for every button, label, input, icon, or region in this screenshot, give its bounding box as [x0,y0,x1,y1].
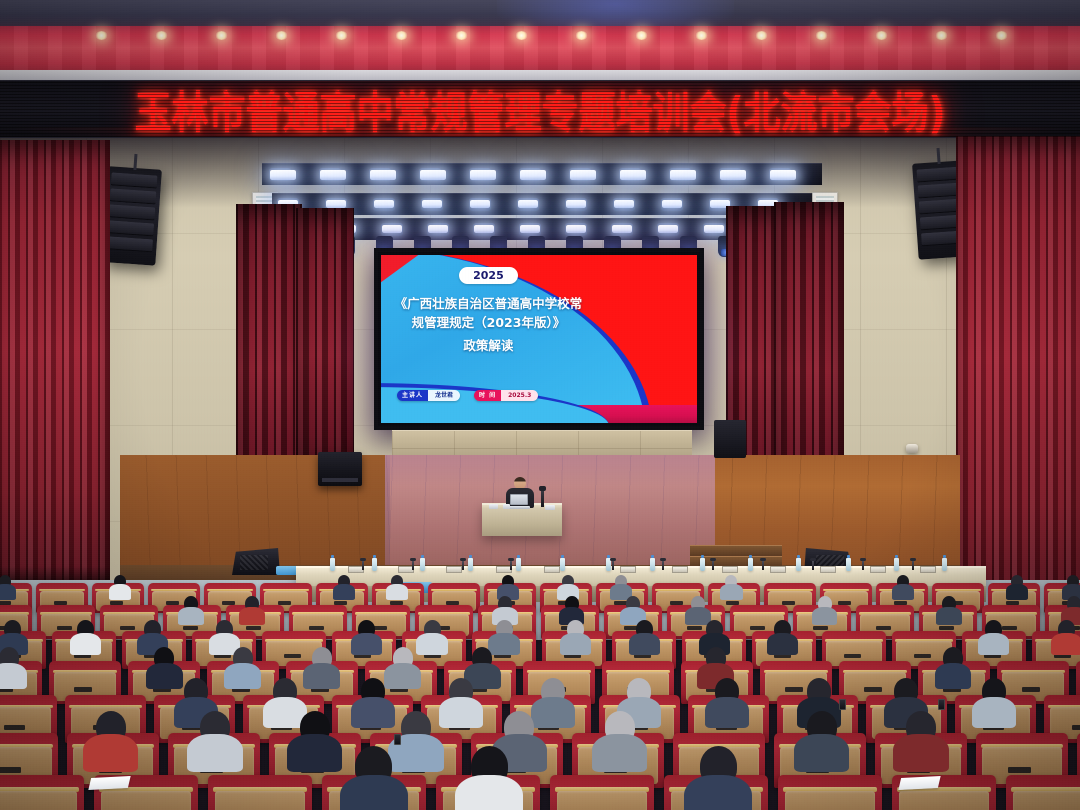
audience-member-shoulders [488,633,519,655]
audience-member [355,746,392,786]
audience-member-shoulders [1006,584,1028,600]
audience-member [391,575,403,588]
table-item-right [545,505,555,510]
ceiling-downlight-9 [575,31,588,40]
water-bottle-2 [372,558,377,571]
audience-member-shoulders [146,663,183,689]
audience-member [541,678,565,704]
water-bottle-6 [560,558,565,571]
curtain-far-right [956,136,1080,598]
stage-lamp-3-10 [704,225,724,233]
seat-number-plate [984,654,1001,658]
name-plate-11 [870,566,886,573]
audience-member-shoulders [0,663,27,689]
ceiling-downlight-11 [695,31,708,40]
audience-member-shoulders [592,734,647,772]
audience-member-shoulders [935,663,972,689]
stage-monitor-speaker-left [232,548,280,575]
ceiling-downlight-7 [455,31,468,40]
audience-member [96,711,126,743]
audience-member-shoulders [187,734,242,772]
seat-number-plate [564,654,581,658]
water-bottle-3 [420,558,425,571]
audience-member-shoulders [416,633,447,655]
audience-member [894,678,918,704]
raised-phone [394,734,401,745]
audience-member [706,620,723,638]
audience-member [273,678,297,704]
ceiling-downlight-13 [815,31,828,40]
stage-lamp-1-4 [420,170,446,180]
wall-light-right-upper [906,444,918,453]
audience-member [154,647,174,669]
audience-member [498,596,512,611]
audience-member [818,596,832,611]
desk-microphone-11 [912,560,914,570]
audience-member-shoulders [70,633,101,655]
audience-member [897,575,909,588]
stage-lamp-3-8 [612,225,632,233]
seat-number-plate [284,654,301,658]
stage-lamp-1-3 [370,170,396,180]
audience-member [300,711,330,743]
seat-back-panel [0,791,77,810]
stage-lamp-2-8 [614,200,634,208]
audience-member [0,575,11,588]
seat-number-plate [1054,654,1071,658]
name-plate-7 [672,566,688,573]
audience-member [393,647,413,669]
stage-lamp-1-9 [670,170,696,180]
desk-microphone-5 [612,560,614,570]
audience-member [245,596,259,611]
audience-member-shoulders [351,633,382,655]
audience-member [906,711,936,743]
audience-member-shoulders [303,663,340,689]
seat-number-plate [354,654,371,658]
name-plate-3 [446,566,462,573]
audience-member-shoulders [287,734,342,772]
ceiling-downlight-5 [335,31,348,40]
audience-member [567,620,584,638]
audience-seating-area [0,575,1080,810]
audience-member-shoulders [892,584,914,600]
seat-number-plate [939,626,954,630]
seat-number-plate [57,626,72,630]
audience-member [715,678,739,704]
audience-member-shoulders [705,697,749,728]
name-plate-9 [770,566,786,573]
ceiling-downlight-10 [635,31,648,40]
table-item-mid [503,504,510,509]
seat-back-panel [101,791,190,810]
seat-back-panel [215,791,304,810]
seat-number-plate [813,626,828,630]
audience-member [565,596,579,611]
slide-time-pill: 时 间 2025.3 [474,390,538,401]
laptop-keyboard [508,506,530,509]
stage-lamp-1-11 [770,170,796,180]
stage-lamp-3-4 [428,225,448,233]
audience-member-shoulders [384,663,421,689]
seat-number-plate [785,687,804,692]
seat-number-plate [74,654,91,658]
seat-number-plate [914,654,931,658]
ceiling-downlight-15 [935,31,948,40]
audience-member-shoulders [109,584,131,600]
auditorium-photo: 玉林市普通高中常规管理专题培训会(北流市会场) 20 [0,0,1080,810]
presenter-laptop [508,494,530,507]
stage-lamp-3-6 [520,225,540,233]
seat-back-panel [557,791,646,810]
seat-number-plate [634,654,651,658]
audience-member [471,746,508,786]
audience-member-shoulders [239,607,265,625]
water-bottle-1 [330,558,335,571]
audience-member [216,620,233,638]
audience-member-shoulders [560,633,591,655]
slide-subtitle: 政策解读 [463,335,513,354]
audience-member [312,647,332,669]
audience-member [338,575,350,588]
slide-time-label: 时 间 [474,390,501,401]
seat-back-panel [1013,791,1080,810]
stage-lamp-2-5 [470,200,490,208]
ceiling-downlight-12 [755,31,768,40]
audience-member [807,678,831,704]
seat[interactable] [778,775,882,810]
audience-member [615,575,627,588]
name-plate-6 [620,566,636,573]
audience-member-shoulders [531,697,575,728]
slide-title-line-1: 《广西壮族自治区普通高中学校常 [387,294,589,313]
audience-member [700,746,737,786]
ceiling-downlight-8 [515,31,528,40]
ceiling-downlight-6 [395,31,408,40]
audience-member [706,647,726,669]
audience-member-shoulders [333,584,355,600]
audience-member [449,678,473,704]
audience-member-shoulders [455,775,523,810]
seat-number-plate [74,687,93,692]
desk-microphone-7 [712,560,714,570]
seat-back-panel [899,791,988,810]
water-bottle-8 [650,558,655,571]
audience-member-shoulders [351,697,395,728]
seat-number-plate [687,626,702,630]
audience-member [502,575,514,588]
seat-number-plate [1002,626,1017,630]
seat-number-plate [424,654,441,658]
audience-member-shoulders [178,607,204,625]
desk-microphone-8 [762,560,764,570]
audience-member [233,647,253,669]
audience-member [691,596,705,611]
ceiling-downlight-3 [215,31,228,40]
seat-number-plate [750,626,765,630]
slide-meta-row: 主讲人 龙世君 时 间 2025.3 [381,390,697,401]
curtain-stage-left-leg [296,208,354,476]
desk-microphone-6 [662,560,664,570]
seat-number-plate [214,654,231,658]
audience-member [562,575,574,588]
seat-number-plate [0,767,21,773]
curtain-far-left [0,140,110,580]
audience-member-shoulders [1051,633,1080,655]
led-projection-screen: 2025 《广西壮族自治区普通高中学校常 规管理规定（2023年版）》 政策解读… [374,248,704,430]
stage-lamp-1-1 [270,170,296,180]
seat-number-plate [1008,767,1032,773]
stage-lamp-1-6 [520,170,546,180]
led-banner-text: 玉林市普通高中常规管理专题培训会(北流市会场) [135,80,946,138]
water-bottle-13 [894,558,899,571]
seat-number-plate [774,654,791,658]
desk-microphone-3 [462,560,464,570]
audience-member [942,596,956,611]
audience-member-shoulders [83,734,138,772]
audience-member [144,620,161,638]
stage-lamp-2-6 [518,200,538,208]
seat-number-plate [183,626,198,630]
audience-member [982,678,1006,704]
audience-member [943,647,963,669]
audience-member [496,620,513,638]
table-item-left [489,504,498,509]
ceiling-downlight-16 [995,31,1008,40]
seat-number-plate [120,626,135,630]
stage-lamp-1-2 [320,170,346,180]
water-bottle-14 [942,558,947,571]
audience-member-shoulders [893,734,948,772]
stage-lamp-3-9 [658,225,678,233]
audience-member-shoulders [684,775,752,810]
notebook-on-lap [898,776,940,790]
seat-number-plate [1022,687,1041,692]
desk-microphone-1 [362,560,364,570]
audience-member-shoulders [386,584,408,600]
audience-member-shoulders [767,633,798,655]
presenter-microphone [541,489,544,507]
notebook-on-lap [88,776,130,790]
slide-presenter-name: 龙世君 [428,390,460,401]
audience-member-shoulders [720,584,742,600]
slide-year-badge: 2025 [459,267,518,284]
seat-number-plate [246,626,261,630]
truss-row-1 [262,163,822,185]
audience-member-shoulders [972,697,1016,728]
seat-number-plate [1072,725,1080,730]
raised-phone [839,699,846,710]
audience-member [424,620,441,638]
raised-phone [938,699,945,710]
stage-lamp-1-8 [620,170,646,180]
audience-member [636,620,653,638]
audience-member [77,620,94,638]
ceiling-downlight-1 [95,31,108,40]
audience-member-shoulders [978,633,1009,655]
audience-member [774,620,791,638]
slide-presenter-label: 主讲人 [397,390,428,401]
desk-microphone-9 [812,560,814,570]
audience-member [504,711,534,743]
audience-member [114,575,126,588]
slide-title: 《广西壮族自治区普通高中学校常 规管理规定（2023年版）》 [387,294,589,333]
seat-number-plate [844,654,861,658]
stage-lamp-2-7 [566,200,586,208]
slide-time-value: 2025.3 [501,390,538,401]
seat-number-plate [494,654,511,658]
slide-presenter-pill: 主讲人 龙世君 [397,390,460,401]
desk-microphone-2 [412,560,414,570]
audience-member-shoulders [340,775,408,810]
audience-member [605,711,635,743]
audience-member [472,647,492,669]
name-plate-12 [920,566,936,573]
water-bottle-10 [748,558,753,571]
hanging-line-array-speaker-left [101,166,162,266]
stage-lamp-1-5 [470,170,496,180]
audience-member [361,678,385,704]
audience-member [1067,575,1079,588]
desk-microphone-4 [510,560,512,570]
seat-number-plate [864,687,883,692]
water-bottle-11 [796,558,801,571]
seat-number-plate [876,626,891,630]
stage-lamp-3-5 [474,225,494,233]
stage-lamp-2-4 [422,200,442,208]
stage-lamp-1-7 [570,170,596,180]
audience-member [807,711,837,743]
audience-member [0,647,19,669]
seat[interactable] [0,775,84,810]
audience-member-shoulders [0,584,16,600]
stage-lamp-3-7 [566,225,586,233]
audience-member [627,678,651,704]
seat[interactable] [208,775,312,810]
led-banner: 玉林市普通高中常规管理专题培训会(北流市会场) [0,80,1080,138]
audience-member [626,596,640,611]
audience-member-shoulders [439,697,483,728]
water-bottle-9 [700,558,705,571]
audience-member [184,678,208,704]
name-plate-8 [722,566,738,573]
water-bottle-5 [516,558,521,571]
seat-back-panel [785,791,874,810]
audience-member-shoulders [629,633,660,655]
stage-lamp-1-10 [720,170,746,180]
audience-member-shoulders [794,734,849,772]
desk-microphone-10 [862,560,864,570]
audience-member-shoulders [224,663,261,689]
seat-number-plate [4,725,25,730]
laptop-screen [510,494,528,505]
seat[interactable] [550,775,654,810]
ceiling-downlight-4 [275,31,288,40]
ceiling-downlight-14 [875,31,888,40]
audience-member-shoulders [812,607,838,625]
water-bottle-12 [846,558,851,571]
audience-member [184,596,198,611]
ceiling-downlight-2 [155,31,168,40]
audience-member [1011,575,1023,588]
name-plate-5 [544,566,560,573]
audience-member [4,620,21,638]
audience-member [725,575,737,588]
audience-member [985,620,1002,638]
audience-member [1058,620,1075,638]
audience-member-shoulders [936,607,962,625]
audience-member [200,711,230,743]
slide-title-line-2: 规管理规定（2023年版）》 [387,313,589,332]
stage-lamp-2-3 [374,200,394,208]
water-bottle-4 [468,558,473,571]
seat-number-plate [309,626,324,630]
audience-member [1067,596,1080,611]
audience-member [401,711,431,743]
seat[interactable] [1006,775,1080,810]
stage-lamp-2-9 [662,200,682,208]
piano-equipment-left [318,452,362,486]
stage-lamp-2-2 [326,200,346,208]
audience-member [358,620,375,638]
equipment-case-right [714,420,746,458]
stage-lamp-3-3 [382,225,402,233]
presentation-slide: 2025 《广西壮族自治区普通高中学校常 规管理规定（2023年版）》 政策解读… [381,255,697,423]
name-plate-10 [820,566,836,573]
